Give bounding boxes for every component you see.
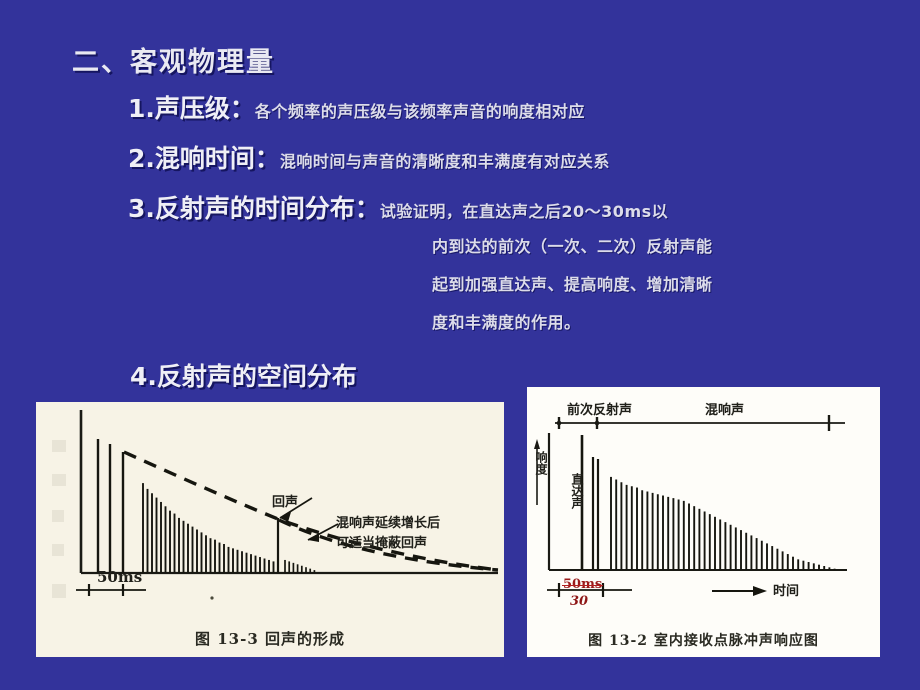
list-item-3-number: 3.反射声的时间分布： [128, 194, 380, 223]
label-direct-sound: 直达声 [569, 473, 586, 509]
figure-impulse-response: 前次反射声 混响声 响度 直达声 50ms 30 时间 图 13-2 室内接收点… [527, 387, 880, 657]
label-reverb-note-line2: 可适当掩蔽回声 [336, 532, 427, 551]
list-item-2-text: 混响时间与声音的清晰度和丰满度有对应关系 [280, 152, 610, 171]
label-time-scale-50ms: 50ms [97, 568, 142, 586]
list-item-1-number: 1.声压级： [128, 94, 255, 123]
list-item-4: 4.反射声的空间分布 [130, 357, 357, 393]
list-item-3: 3.反射声的时间分布：试验证明，在直达声之后20～30ms以 [128, 189, 668, 225]
figure-impulse-response-graphic [527, 387, 880, 657]
list-item-4-number: 4.反射声的空间分布 [130, 362, 357, 391]
figure-right-caption: 图 13-2 室内接收点脉冲声响应图 [527, 630, 880, 650]
list-item-2: 2.混响时间：混响时间与声音的清晰度和丰满度有对应关系 [128, 139, 610, 175]
label-echo: 回声 [272, 491, 298, 510]
slide-canvas: 二、客观物理量 1.声压级：各个频率的声压级与该频率声音的响度相对应 2.混响时… [0, 0, 920, 690]
label-reverberation: 混响声 [705, 399, 744, 418]
list-item-3-continuation-2: 起到加强直达声、提高响度、增加清晰 [432, 271, 713, 295]
list-item-1-text: 各个频率的声压级与该频率声音的响度相对应 [255, 102, 585, 121]
label-time-axis: 时间 [773, 580, 799, 599]
page-title: 二、客观物理量 [72, 40, 275, 79]
figure-echo-formation: 回声 混响声延续增长后 可适当掩蔽回声 50ms 图 13-3 回声的形成 [36, 402, 504, 657]
list-item-2-number: 2.混响时间： [128, 144, 280, 173]
list-item-3-continuation-3: 度和丰满度的作用。 [432, 309, 581, 333]
label-early-reflections: 前次反射声 [567, 399, 632, 418]
label-loudness-axis: 响度 [533, 451, 550, 475]
label-reverb-note-line1: 混响声延续增长后 [336, 512, 440, 531]
figure-left-caption: 图 13-3 回声的形成 [36, 628, 504, 649]
list-item-3-continuation-1: 内到达的前次（一次、二次）反射声能 [432, 233, 713, 257]
list-item-1: 1.声压级：各个频率的声压级与该频率声音的响度相对应 [128, 89, 585, 125]
handwritten-annotation-30: 30 [570, 594, 588, 609]
list-item-3-text: 试验证明，在直达声之后20～30ms以 [380, 202, 668, 221]
label-time-scale-50ms-struck: 50ms [563, 577, 602, 592]
